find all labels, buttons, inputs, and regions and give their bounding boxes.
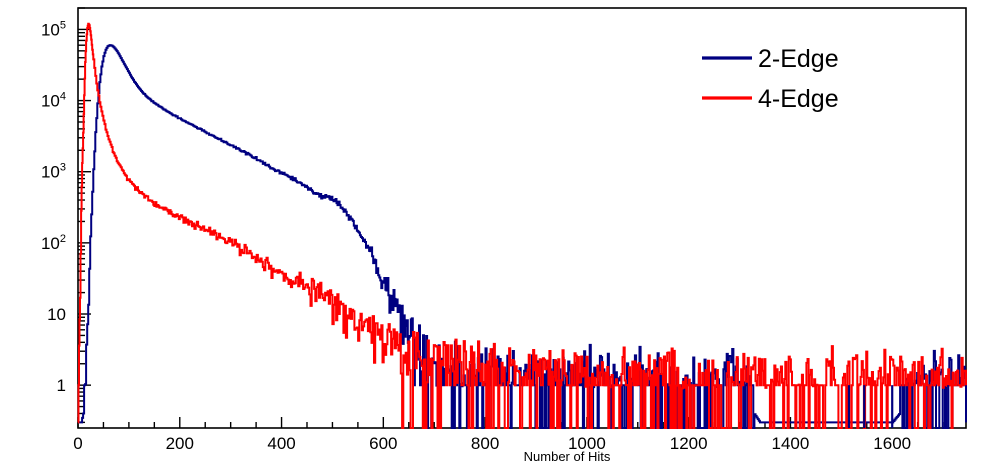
x-tick-label: 200: [166, 434, 194, 453]
x-tick-label: 1200: [670, 434, 708, 453]
y-tick-label: 10: [47, 305, 66, 324]
x-tick-label: 0: [73, 434, 82, 453]
x-tick-label: 1400: [772, 434, 810, 453]
legend-label-2-edge: 2-Edge: [758, 45, 839, 73]
x-tick-label: 600: [369, 434, 397, 453]
x-tick-label: 400: [267, 434, 295, 453]
x-tick-label: 1600: [873, 434, 911, 453]
chart-canvas: 110102103104105 020040060080010001200140…: [0, 0, 996, 472]
legend-label-4-edge: 4-Edge: [758, 85, 839, 113]
histogram-plot: 110102103104105 020040060080010001200140…: [0, 0, 996, 472]
x-tick-label: 800: [471, 434, 499, 453]
x-axis-title: Number of Hits: [524, 449, 611, 464]
y-tick-label: 1: [57, 376, 66, 395]
